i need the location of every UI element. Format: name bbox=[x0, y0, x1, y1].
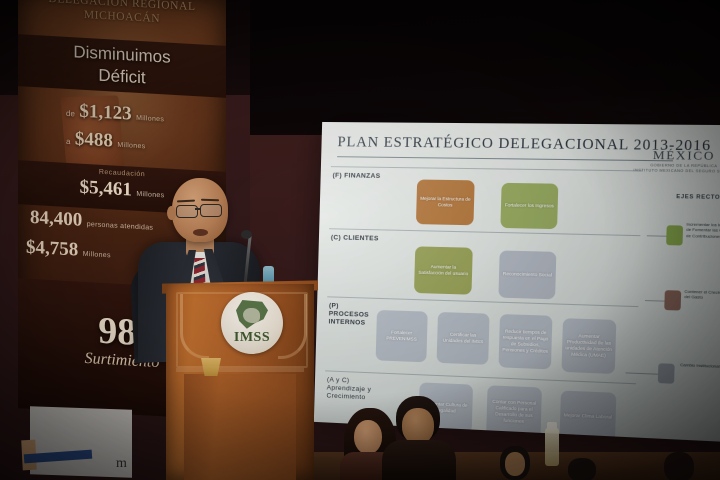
podium-lower-band bbox=[176, 368, 304, 372]
banner-to-unit: Millones bbox=[117, 142, 145, 151]
banner-from-amount: $1,123 bbox=[79, 101, 131, 125]
banner-stat2-amount: 84,400 bbox=[30, 207, 82, 231]
legend-connector-3 bbox=[626, 372, 658, 374]
slide-box-finanzas-1: Mejorar la Estructura de Costos bbox=[416, 179, 475, 225]
water-bottle bbox=[545, 428, 559, 466]
banner-from-unit: Millones bbox=[136, 115, 164, 124]
legend-chip-2 bbox=[664, 290, 681, 310]
slide-box-procesos-2: Certificar las Unidades del IMSS bbox=[437, 312, 490, 365]
legend-chip-3 bbox=[658, 363, 675, 384]
water-bottle-cap bbox=[547, 422, 557, 430]
slide-row-label-finanzas: (F) FINANZAS bbox=[332, 172, 403, 181]
back-wall-right-dark bbox=[250, 0, 720, 135]
panelist-woman-face bbox=[354, 420, 382, 454]
podium-seal-text: IMSS bbox=[221, 330, 283, 346]
slide-box-clientes-2: Reconocimiento Social bbox=[498, 250, 556, 299]
panelist-man-body bbox=[382, 440, 456, 480]
foreground-mark: m bbox=[116, 456, 127, 472]
slide-box-procesos-3: Reducir tiempos de respuesta en el Pago … bbox=[498, 314, 552, 369]
banner-stat3-unit: Millones bbox=[83, 251, 111, 260]
auditorium-scene: DELEGACIÓN REGIONAL MICHOACÁN Disminuimo… bbox=[0, 0, 720, 480]
eagle-emblem-highlight-icon bbox=[243, 308, 260, 323]
slide-box-finanzas-2: Fortalecer los Ingresos bbox=[500, 183, 558, 229]
banner-stat3-amount: $4,758 bbox=[26, 237, 78, 261]
slide-title-rule bbox=[337, 156, 673, 161]
speaker-mouth bbox=[193, 229, 208, 236]
slide-legend-title: EJES RECTORES bbox=[676, 194, 720, 201]
banner-stat2-unit: personas atendidas bbox=[87, 221, 154, 232]
banner-stat1-unit: Millones bbox=[136, 191, 164, 200]
slide-row-label-procesos: (P) PROCESOS INTERNOS bbox=[328, 302, 375, 328]
slide-rule-1 bbox=[331, 166, 642, 171]
mexico-logo: MÉXICO GOBIERNO DE LA REPÚBLICA INSTITUT… bbox=[633, 147, 720, 174]
slide-box-procesos-4: Aumentar Productividad de las unidades d… bbox=[561, 318, 616, 374]
mexico-logo-word: MÉXICO bbox=[634, 147, 720, 164]
legend-text-3: Cambio Institucional bbox=[680, 362, 720, 370]
legend-text-1: Incrementar los Ingresos de Fomentar las… bbox=[686, 221, 720, 239]
microphone-head-icon bbox=[241, 230, 252, 239]
slide-box-clientes-1: Aumentar la Satisfacción del usuario bbox=[414, 246, 473, 294]
banner-deficit-figures: de $1,123 Millones a $488 Millones bbox=[66, 99, 226, 164]
panelist-man-face bbox=[402, 408, 434, 444]
audience-face-1 bbox=[505, 452, 525, 476]
mexico-logo-sub2: INSTITUTO MEXICANO DEL SEGURO SOCIAL bbox=[633, 168, 720, 175]
banner-to-prefix: a bbox=[66, 137, 70, 146]
slide-row-label-aprendizaje: (A y C) Aprendizaje y Crecimiento bbox=[326, 376, 389, 403]
legend-text-2: Contener el Crecimiento del Gasto bbox=[684, 289, 720, 302]
speaker-ear bbox=[167, 206, 176, 220]
audience-head-3 bbox=[664, 452, 694, 480]
podium-base bbox=[184, 374, 296, 480]
slide-row-label-clientes: (C) CLIENTES bbox=[331, 234, 402, 244]
audience-head-2 bbox=[568, 458, 596, 480]
slide-box-procesos-1: Fortalecer PREVENIMSS bbox=[376, 310, 428, 362]
banner-from-prefix: de bbox=[66, 109, 75, 118]
speaker-glasses-left-lens bbox=[176, 205, 198, 218]
banner-stat1-amount: $5,461 bbox=[80, 177, 132, 201]
speaker-glasses-bridge bbox=[195, 208, 201, 210]
speaker-glasses-right-lens bbox=[200, 204, 222, 217]
legend-chip-1 bbox=[666, 225, 683, 245]
banner-to-amount: $488 bbox=[75, 128, 113, 151]
projection-screen: PLAN ESTRATÉGICO DELEGACIONAL 2013-2016 … bbox=[314, 122, 720, 442]
